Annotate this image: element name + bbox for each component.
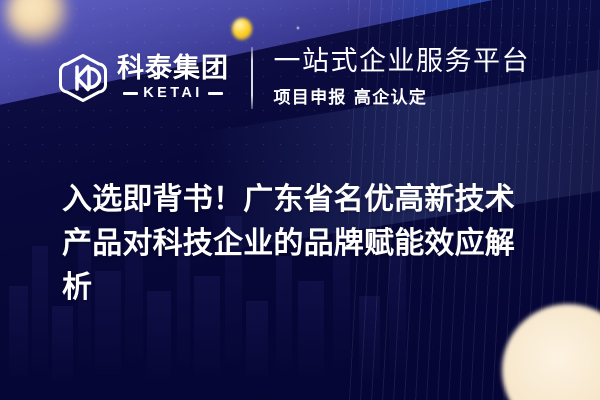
brand-wordmark: 科泰集团 KETAI (117, 55, 229, 101)
header-divider (251, 47, 253, 109)
gold-glow-dot-icon (232, 18, 252, 40)
rule-left-icon (123, 92, 138, 95)
promo-banner: 科泰集团 KETAI 一站式企业服务平台 项目申报 高企认定 入选即背书！广东省… (0, 0, 600, 400)
page-title: 入选即背书！广东省名优高新技术产品对科技企业的品牌赋能效应解析 (62, 178, 538, 310)
tagline-main: 一站式企业服务平台 (274, 48, 531, 77)
banner-header: 科泰集团 KETAI 一站式企业服务平台 项目申报 高企认定 (0, 42, 600, 114)
brand-name-cn: 科泰集团 (117, 55, 229, 82)
tagline-block: 一站式企业服务平台 项目申报 高企认定 (274, 48, 531, 109)
small-spark-dot-icon (296, 26, 300, 30)
ketai-diamond-monogram-icon (58, 53, 108, 103)
tagline-sub: 项目申报 高企认定 (274, 83, 531, 108)
rule-right-icon (208, 92, 223, 95)
brand-logo-lockup[interactable]: 科泰集团 KETAI (58, 53, 229, 103)
brand-name-en: KETAI (143, 86, 202, 101)
brand-name-en-row: KETAI (123, 86, 222, 101)
